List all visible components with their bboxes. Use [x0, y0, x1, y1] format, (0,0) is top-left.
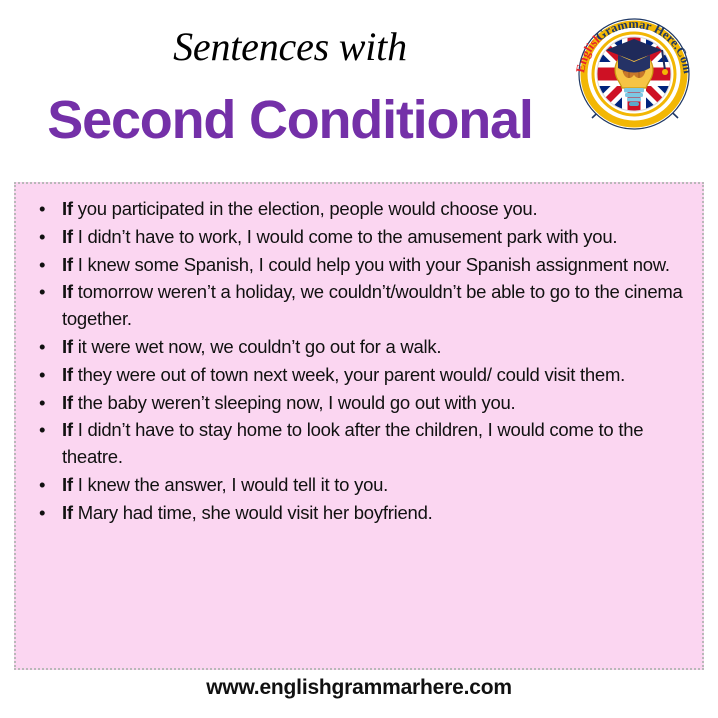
- list-item: • If I knew the answer, I would tell it …: [26, 472, 692, 499]
- page-eyebrow-title: Sentences with: [0, 26, 580, 68]
- sentence-text: Mary had time, she would visit her boyfr…: [73, 502, 433, 523]
- sentence-lead: If: [62, 392, 73, 413]
- sentence-text: I knew some Spanish, I could help you wi…: [73, 254, 670, 275]
- sentence-list: • If you participated in the election, p…: [26, 196, 692, 527]
- bullet-icon: •: [39, 500, 45, 527]
- sentence-text: tomorrow weren’t a holiday, we couldn’t/…: [62, 281, 683, 329]
- sentence-lead: If: [62, 474, 73, 495]
- sentence-text: I knew the answer, I would tell it to yo…: [73, 474, 388, 495]
- sentence-lead: If: [62, 226, 73, 247]
- bullet-icon: •: [39, 334, 45, 361]
- poster-page: Sentences with Second Conditional: [0, 0, 718, 718]
- sentence-text: the baby weren’t sleeping now, I would g…: [73, 392, 516, 413]
- site-logo[interactable]: English Grammar Here.Com: [566, 8, 702, 144]
- list-item: • If I didn’t have to stay home to look …: [26, 417, 692, 471]
- sentence-lead: If: [62, 281, 73, 302]
- list-item: • If I didn’t have to work, I would come…: [26, 224, 692, 251]
- list-item: • If tomorrow weren’t a holiday, we coul…: [26, 279, 692, 333]
- list-item: • If Mary had time, she would visit her …: [26, 500, 692, 527]
- bullet-icon: •: [39, 362, 45, 389]
- bullet-icon: •: [39, 472, 45, 499]
- list-item: • If the baby weren’t sleeping now, I wo…: [26, 390, 692, 417]
- sentence-text: I didn’t have to stay home to look after…: [62, 419, 643, 467]
- bullet-icon: •: [39, 279, 45, 306]
- sentence-lead: If: [62, 336, 73, 357]
- sentence-lead: If: [62, 502, 73, 523]
- bullet-icon: •: [39, 224, 45, 251]
- sentence-lead: If: [62, 364, 73, 385]
- bullet-icon: •: [39, 390, 45, 417]
- bullet-icon: •: [39, 417, 45, 444]
- sentence-lead: If: [62, 198, 73, 219]
- footer-url[interactable]: www.englishgrammarhere.com: [0, 676, 718, 700]
- list-item: • If they were out of town next week, yo…: [26, 362, 692, 389]
- sentence-text: I didn’t have to work, I would come to t…: [73, 226, 617, 247]
- sentence-lead: If: [62, 419, 73, 440]
- sentence-text: it were wet now, we couldn’t go out for …: [73, 336, 441, 357]
- page-title: Second Conditional: [0, 92, 580, 149]
- sentence-text: you participated in the election, people…: [73, 198, 538, 219]
- list-item: • If you participated in the election, p…: [26, 196, 692, 223]
- sentences-panel: • If you participated in the election, p…: [14, 182, 704, 670]
- bullet-icon: •: [39, 252, 45, 279]
- list-item: • If it were wet now, we couldn’t go out…: [26, 334, 692, 361]
- sentence-lead: If: [62, 254, 73, 275]
- list-item: • If I knew some Spanish, I could help y…: [26, 252, 692, 279]
- bullet-icon: •: [39, 196, 45, 223]
- poster-header: Sentences with Second Conditional: [0, 0, 718, 175]
- sentence-text: they were out of town next week, your pa…: [73, 364, 625, 385]
